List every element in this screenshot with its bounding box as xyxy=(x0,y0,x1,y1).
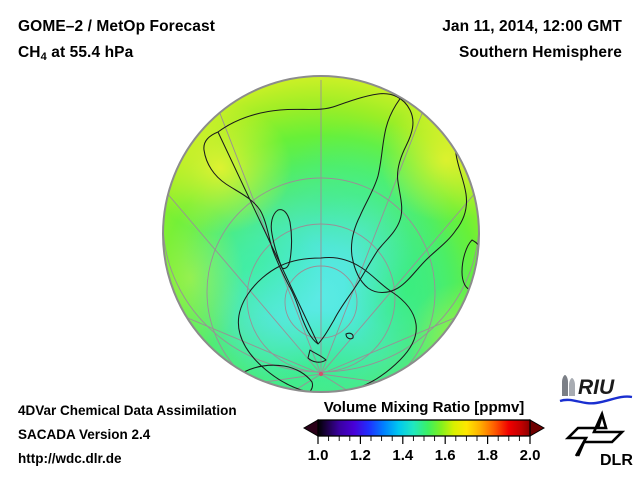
south-pole-marker xyxy=(319,372,323,376)
polar-map xyxy=(160,72,484,396)
globe-svg xyxy=(160,72,484,396)
field-anomaly-lobes xyxy=(136,98,512,426)
colorbar-tick-label: 1.0 xyxy=(308,447,329,464)
riu-logo-text: RIU xyxy=(578,376,615,399)
colorbar-tick-label: 1.6 xyxy=(435,447,456,464)
colorbar-tick-label: 1.2 xyxy=(350,447,371,464)
riu-logo-svg: RIU xyxy=(556,372,636,408)
colorbar: Volume Mixing Ratio [ppmv] 1.0 1.2 1.4 1… xyxy=(300,398,548,470)
footer-version: SACADA Version 2.4 xyxy=(18,427,150,442)
figure-title-species-level: CH4 at 55.4 hPa xyxy=(18,44,133,63)
footer-url: http://wdc.dlr.de xyxy=(18,451,122,466)
colorbar-tick-label: 1.4 xyxy=(392,447,414,464)
species-label: CH xyxy=(18,44,41,61)
footer-assimilation-method: 4DVar Chemical Data Assimilation xyxy=(18,403,237,418)
colorbar-tick-label: 2.0 xyxy=(520,447,541,464)
colorbar-ticks xyxy=(318,436,530,444)
figure-canvas: GOME–2 / MetOp Forecast CH4 at 55.4 hPa … xyxy=(0,0,640,480)
figure-region: Southern Hemisphere xyxy=(459,44,622,62)
figure-datetime: Jan 11, 2014, 12:00 GMT xyxy=(442,18,622,36)
dlr-pinwheel-icon xyxy=(568,414,622,456)
colorbar-tick-labels: 1.0 1.2 1.4 1.6 1.8 2.0 xyxy=(308,447,541,464)
riu-tower-icon xyxy=(562,375,575,396)
colorbar-tick-label: 1.8 xyxy=(477,447,498,464)
colorbar-title: Volume Mixing Ratio [ppmv] xyxy=(324,399,525,416)
coast-tasmania xyxy=(290,401,301,410)
dlr-logo: DLR xyxy=(564,412,636,470)
figure-title-instrument: GOME–2 / MetOp Forecast xyxy=(18,18,215,36)
dlr-logo-text: DLR xyxy=(600,452,633,469)
level-label: at 55.4 hPa xyxy=(47,44,134,61)
globe-field xyxy=(136,76,512,426)
riu-logo: RIU xyxy=(556,372,636,408)
colorbar-svg: Volume Mixing Ratio [ppmv] 1.0 1.2 1.4 1… xyxy=(300,398,548,470)
colorbar-ramp xyxy=(304,420,544,436)
dlr-logo-svg: DLR xyxy=(564,412,636,470)
